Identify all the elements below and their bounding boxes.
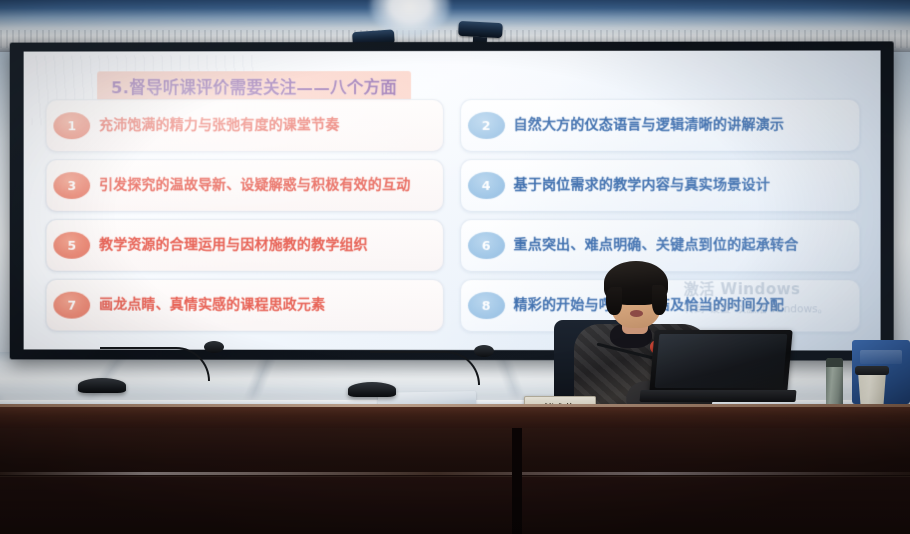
card-text: 基于岗位需求的教学内容与真实场景设计 [514,176,770,195]
slide-content: 5.督导听课评价需要关注——八个方面 1 充沛饱满的精力与张弛有度的课堂节奏 2… [24,50,881,350]
card-number-badge: 8 [468,292,505,319]
slide-card: 4 基于岗位需求的教学内容与真实场景设计 [460,159,861,212]
slide-card: 2 自然大方的仪态语言与逻辑清晰的讲解演示 [460,99,861,152]
slide-title: 5.督导听课评价需要关注——八个方面 [97,71,411,102]
desk-panel-gap [512,428,522,534]
slide-card: 1 充沛饱满的精力与张弛有度的课堂节奏 [45,99,443,152]
slide-card: 3 引发探究的温故导新、设疑解惑与积极有效的互动 [45,159,443,212]
card-text: 画龙点睛、真情实感的课程思政元素 [99,296,325,315]
slide-card: 7 画龙点睛、真情实感的课程思政元素 [45,279,443,332]
card-number-badge: 2 [468,112,505,139]
card-number-badge: 7 [53,292,90,319]
card-number-badge: 5 [53,232,90,259]
card-number-badge: 6 [468,232,505,259]
conference-room-scene: 5.督导听课评价需要关注——八个方面 1 充沛饱满的精力与张弛有度的课堂节奏 2… [0,0,910,534]
card-text: 引发探究的温故导新、设疑解惑与积极有效的互动 [99,176,410,195]
desk-panel-right [522,476,910,534]
card-number-badge: 3 [53,172,90,199]
desk-surface [0,404,910,430]
presenter-mouth [630,310,643,317]
gooseneck-microphone-center [348,382,396,397]
slide-card: 5 教学资源的合理运用与因材施教的教学组织 [45,219,443,272]
presenter-hair [604,261,668,305]
projection-screen-frame: 5.督导听课评价需要关注——八个方面 1 充沛饱满的精力与张弛有度的课堂节奏 2… [10,41,894,360]
laptop-screen[interactable] [649,330,792,392]
card-text: 自然大方的仪态语言与逻辑清晰的讲解演示 [514,116,785,135]
projection-screen: 5.督导听课评价需要关注——八个方面 1 充沛饱满的精力与张弛有度的课堂节奏 2… [24,50,881,350]
card-text: 教学资源的合理运用与因材施教的教学组织 [99,236,368,255]
paper-cup-lid [855,366,889,375]
laptop-keyboard[interactable] [639,390,796,402]
desk-edge-highlight [0,472,910,475]
card-number-badge: 1 [53,112,90,139]
slide-card-grid: 1 充沛饱满的精力与张弛有度的课堂节奏 2 自然大方的仪态语言与逻辑清晰的讲解演… [45,99,860,333]
gooseneck-microphone-left [78,378,126,393]
card-text: 充沛饱满的精力与张弛有度的课堂节奏 [99,116,339,135]
card-text: 重点突出、难点明确、关键点到位的起承转合 [514,236,799,255]
card-number-badge: 4 [468,172,505,199]
desk-panel-left [0,476,512,534]
